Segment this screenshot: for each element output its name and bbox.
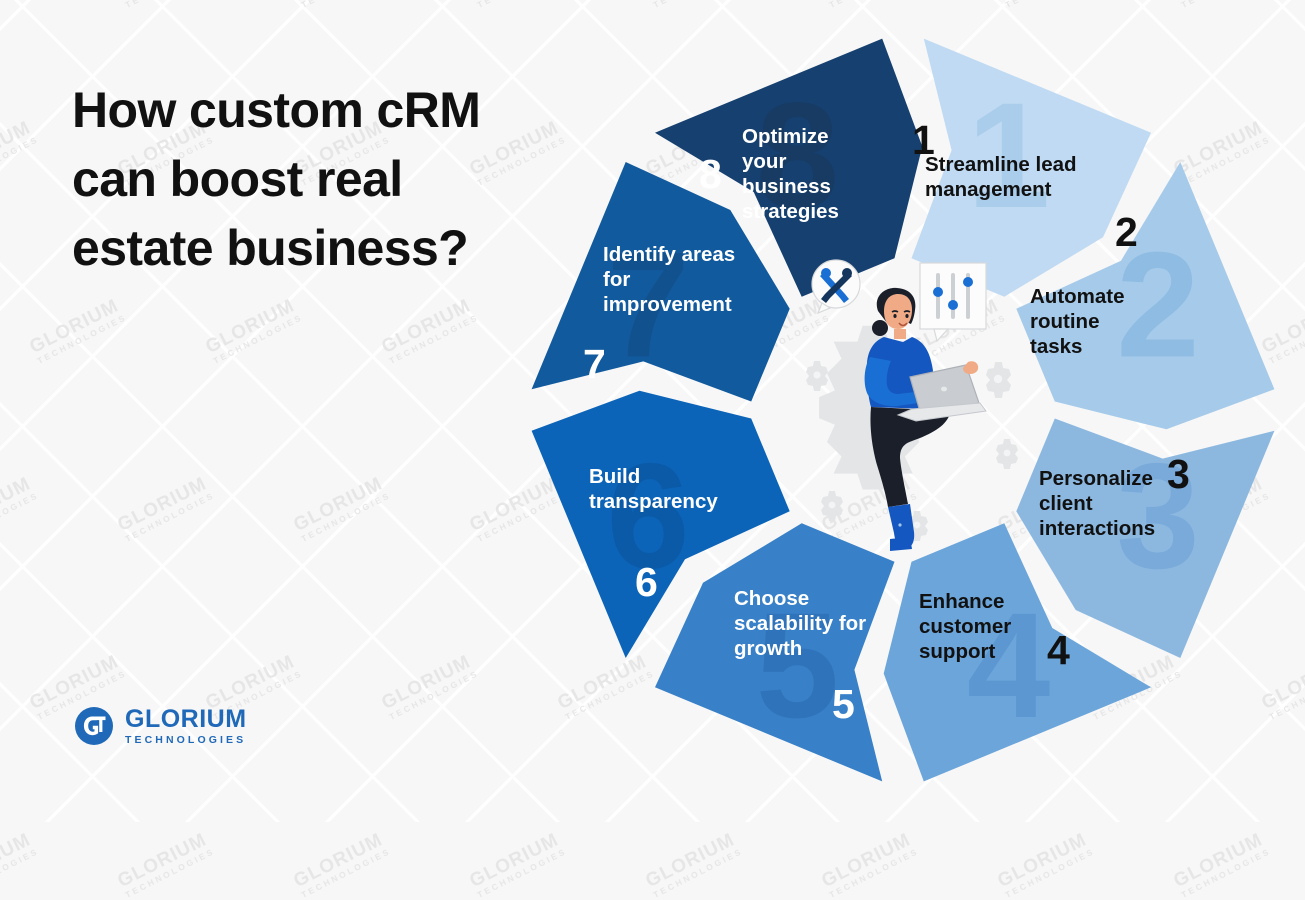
watermark: GLORIUMTECHNOLOGIES [0,117,40,188]
logo-name: GLORIUM [125,707,247,732]
watermark: GLORIUMTECHNOLOGIES [379,295,481,366]
watermark: GLORIUMTECHNOLOGIES [27,295,129,366]
logo-tagline: TECHNOLOGIES [125,735,247,746]
watermark: GLORIUMTECHNOLOGIES [1171,829,1273,900]
watermark: GLORIUMTECHNOLOGIES [0,473,40,544]
watermark: GLORIUMTECHNOLOGIES [467,829,569,900]
watermark: GLORIUMTECHNOLOGIES [643,829,745,900]
watermark: GLORIUMTECHNOLOGIES [995,0,1097,10]
watermark: GLORIUMTECHNOLOGIES [643,0,745,10]
page-title: How custom cRM can boost real estate bus… [72,76,542,283]
crm-benefits-wheel: 12345678 [527,34,1279,786]
wheel-segment-number-6: 6 [635,562,658,603]
wheel-segment-number-4: 4 [1047,630,1070,671]
watermark: GLORIUMTECHNOLOGIES [291,829,393,900]
wheel-segment-label-2: Automate routine tasks [1030,284,1140,359]
watermark: GLORIUMTECHNOLOGIES [291,473,393,544]
watermark: GLORIUMTECHNOLOGIES [819,829,921,900]
wheel-segment-label-5: Choose scalability for growth [734,586,874,661]
watermark: GLORIUMTECHNOLOGIES [115,473,217,544]
wheel-segment-number-7: 7 [583,344,606,385]
watermark: GLORIUMTECHNOLOGIES [115,829,217,900]
wheel-segment-label-6: Build transparency [589,464,754,514]
brand-logo: GLORIUM TECHNOLOGIES [74,706,247,746]
wheel-segment-number-5: 5 [832,684,855,725]
wheel-segment-label-8: Optimize your business strategies [742,124,867,224]
woman-with-laptop-on-gears-illustration [792,249,1032,579]
wheel-segment-label-1: Streamline lead management [925,152,1105,202]
watermark: GLORIUMTECHNOLOGIES [203,295,305,366]
watermark: GLORIUMTECHNOLOGIES [467,0,569,10]
wheel-segment-number-8: 8 [699,154,722,195]
settings-sliders-icon [920,263,986,341]
glorium-circle-gt-mark-icon [74,706,114,746]
watermark: GLORIUMTECHNOLOGIES [0,829,40,900]
watermark: GLORIUMTECHNOLOGIES [291,0,393,10]
wrench-and-screwdriver-icon [812,260,860,313]
watermark: GLORIUMTECHNOLOGIES [115,0,217,10]
watermark: GLORIUMTECHNOLOGIES [0,0,40,10]
wheel-segment-label-4: Enhance customer support [919,589,1039,664]
watermark: GLORIUMTECHNOLOGIES [1171,0,1273,10]
wheel-segment-number-2: 2 [1115,212,1138,253]
wheel-segment-number-3: 3 [1167,454,1190,495]
wheel-segment-label-7: Identify areas for improvement [603,242,763,317]
watermark: GLORIUMTECHNOLOGIES [995,829,1097,900]
wheel-segment-number-1: 1 [912,120,935,161]
wheel-segment-label-3: Personalize client interactions [1039,466,1169,541]
watermark: GLORIUMTECHNOLOGIES [819,0,921,10]
watermark: GLORIUMTECHNOLOGIES [379,651,481,722]
